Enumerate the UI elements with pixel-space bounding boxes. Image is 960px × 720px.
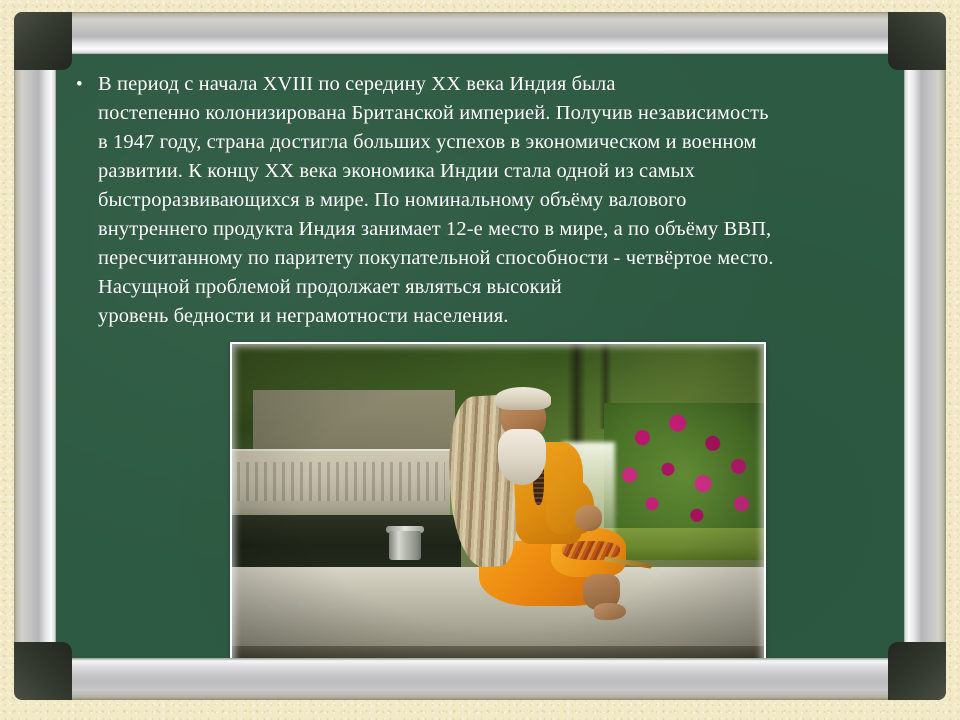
frame-rail-bottom <box>36 658 924 700</box>
frame-rail-left <box>14 34 56 678</box>
frame-rail-right <box>904 34 946 678</box>
board-frame: • В период с начала XVIII по середину XX… <box>14 12 946 700</box>
photo-metal-pot <box>389 531 421 561</box>
frame-corner-top-right <box>888 12 946 70</box>
photo-chalk-marking <box>248 593 365 619</box>
photo-wall-relief <box>237 462 444 501</box>
board-surface: • В период с начала XVIII по середину XX… <box>52 50 908 662</box>
photo-sadhu-beard <box>498 429 546 485</box>
content-body: • В период с начала XVIII по середину XX… <box>72 70 892 331</box>
frame-corner-bottom-right <box>888 642 946 700</box>
photo-tree-trunk-left <box>567 344 586 456</box>
photo-bougainvillea-bush <box>604 403 764 547</box>
body-paragraph: В период с начала XVIII по середину XX в… <box>98 70 892 331</box>
frame-rail-top <box>36 12 924 54</box>
bullet-marker-icon: • <box>72 70 98 99</box>
photo-sadhu-foot <box>594 603 626 619</box>
frame-corner-bottom-left <box>14 642 72 700</box>
photo-sadhu-hand <box>575 505 602 531</box>
photo-sadhu-hair <box>495 387 551 410</box>
photo-frame <box>230 342 766 662</box>
slide-background: • В период с начала XVIII по середину XX… <box>0 0 960 720</box>
frame-corner-top-left <box>14 12 72 70</box>
bullet-row: • В период с начала XVIII по середину XX… <box>72 70 892 331</box>
photo-sadhu-in-garden <box>232 344 764 662</box>
